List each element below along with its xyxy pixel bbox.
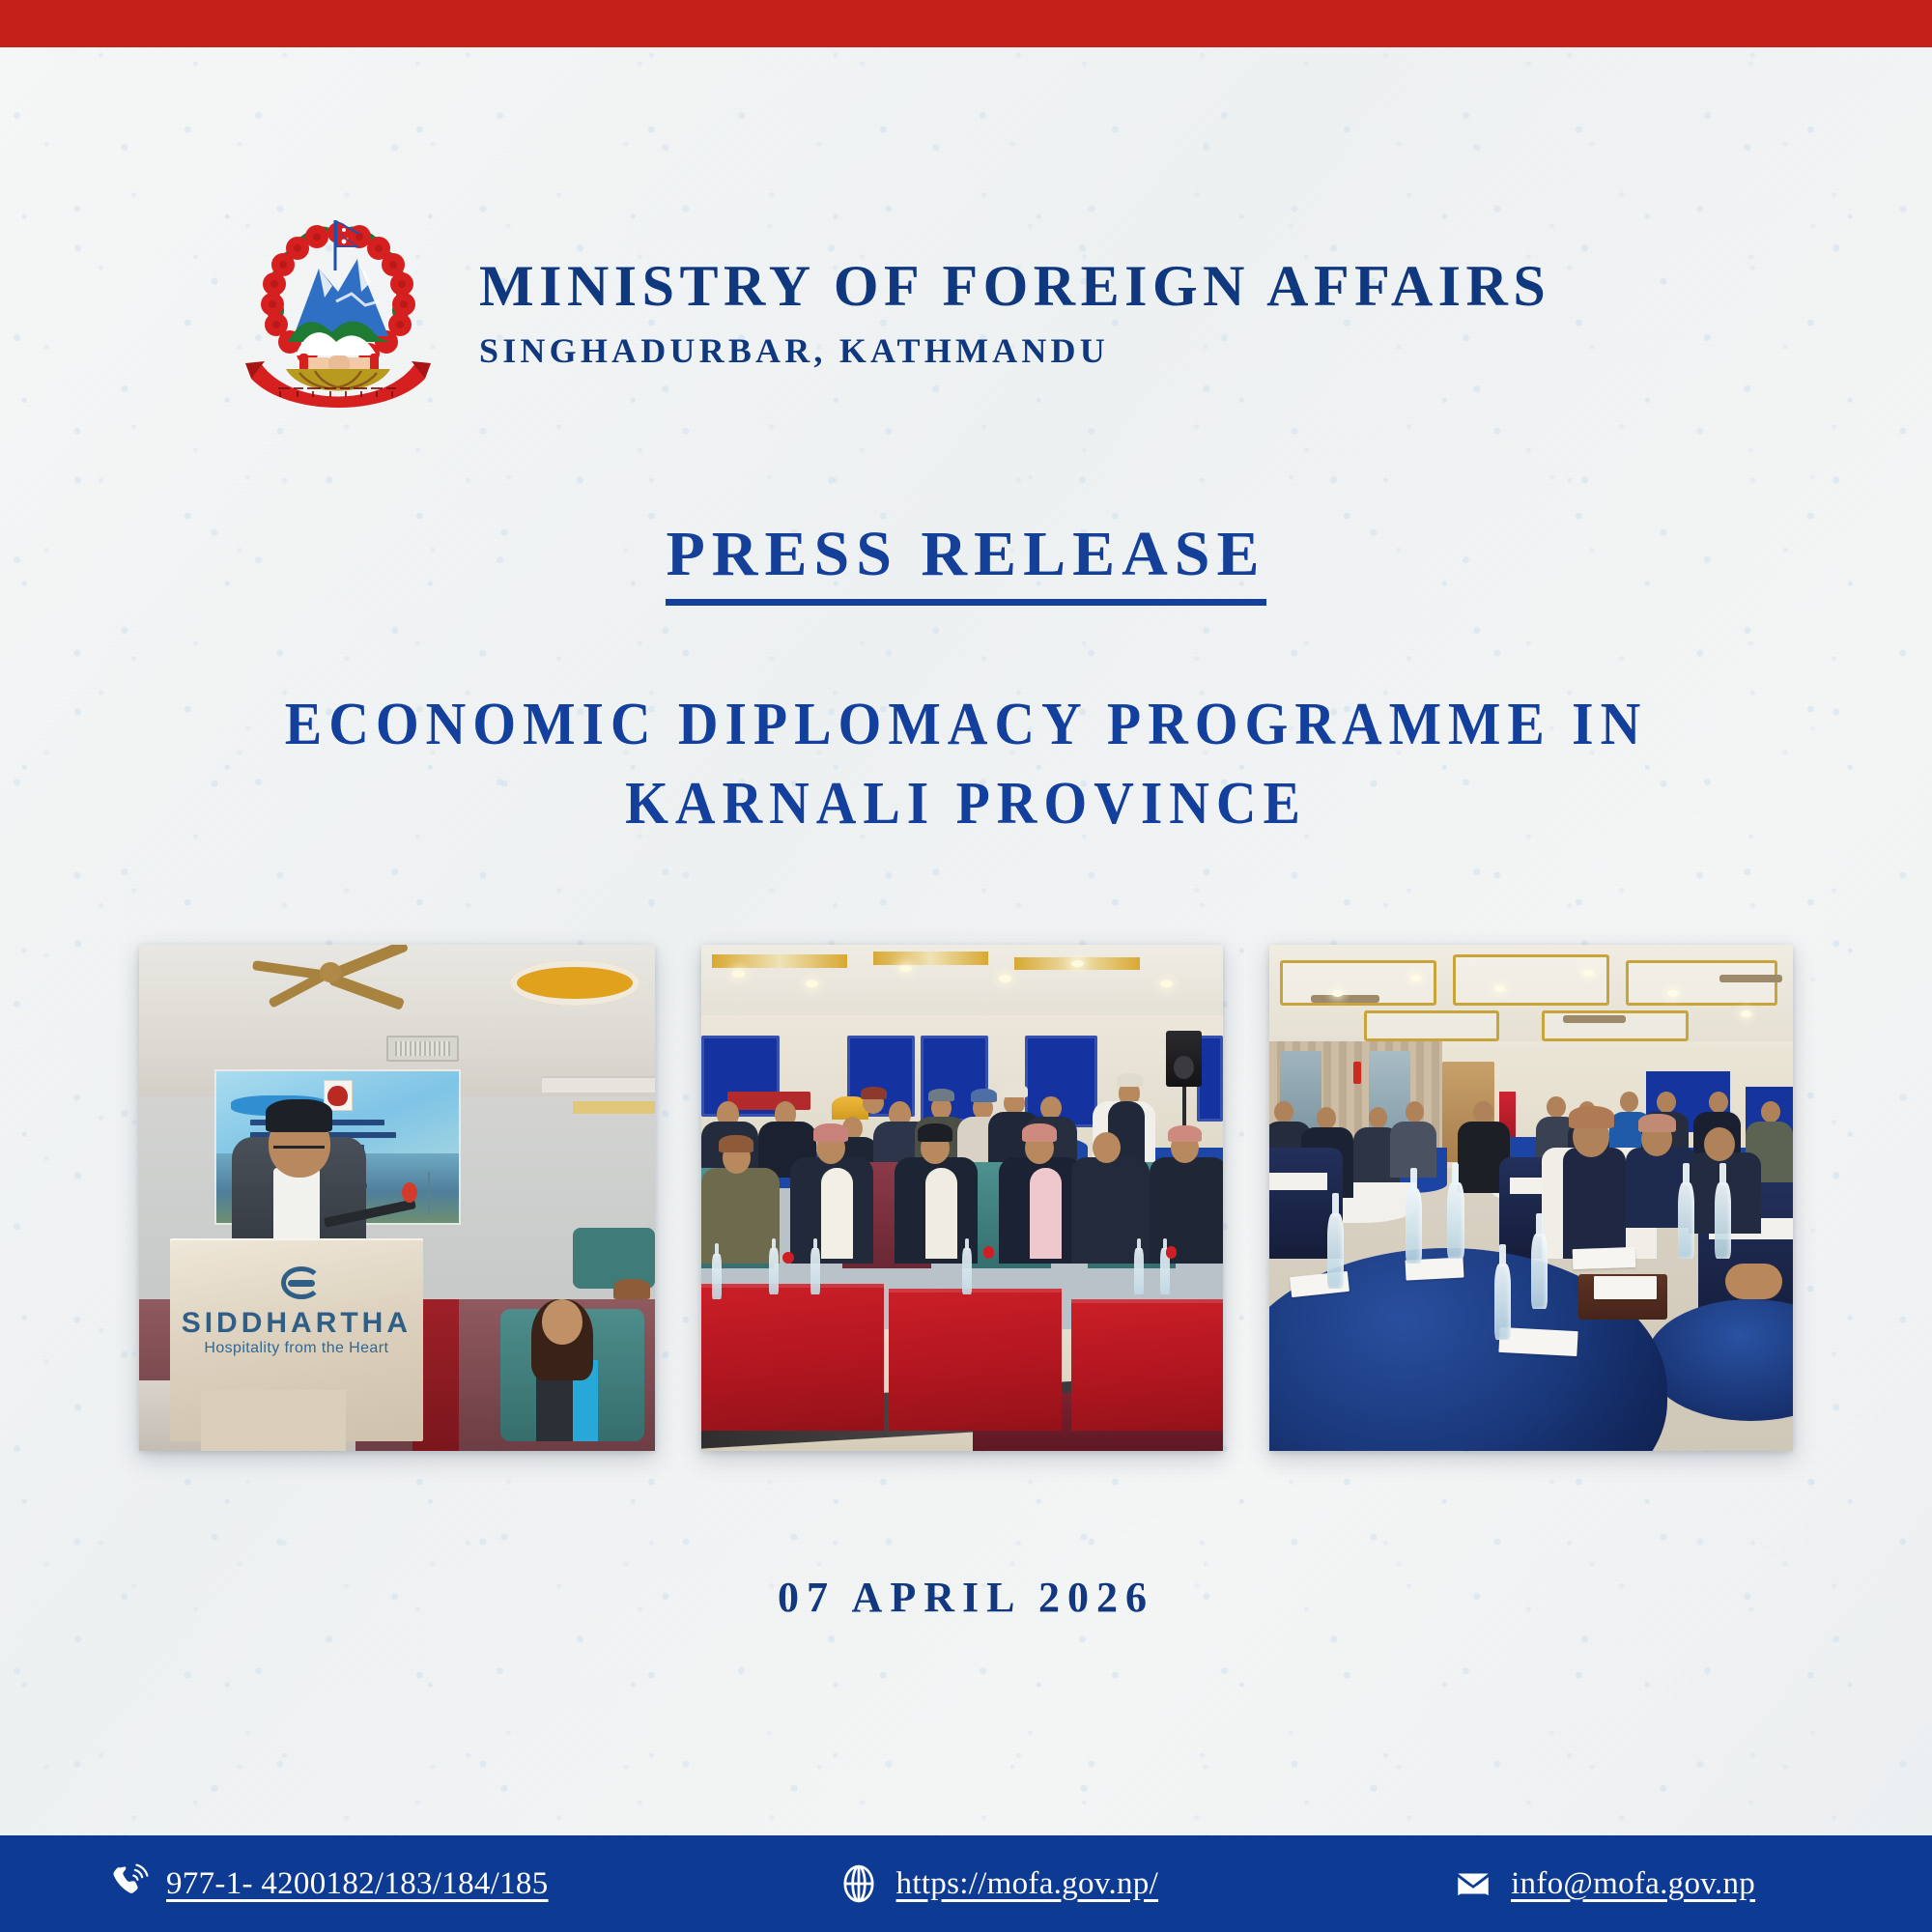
poster-header: MINISTRY OF FOREIGN AFFAIRS SINGHADURBAR… [0,209,1932,417]
water-bottle [712,1254,722,1299]
dhaka-topi [1638,1114,1676,1132]
press-release-date: 07 APRIL 2026 [0,1573,1932,1622]
footer-phone-text[interactable]: 977-1- 4200182/183/184/185 [166,1866,549,1902]
water-bottle [1678,1182,1694,1259]
footer-email-item[interactable]: info@mofa.gov.np [1453,1863,1755,1904]
dhaka-topi [1022,1123,1058,1142]
ceiling-light [732,970,745,977]
ac-vent [386,1036,459,1061]
attendee-head [1369,1107,1388,1128]
ceiling-fan [1719,975,1782,981]
podium-brand-tagline: Hospitality from the Heart [170,1340,423,1357]
dhaka-topi [719,1135,753,1152]
attendee-head [1620,1092,1637,1112]
envelope-icon [1453,1863,1493,1904]
podium-base [201,1390,346,1451]
ceiling-beam [712,954,847,968]
blue-wall-panel [1025,1036,1098,1126]
vip-tie [1030,1168,1061,1259]
attendee-head [1317,1107,1337,1129]
photo-strip: SIDDHARTHA Hospitality from the Heart [0,945,1932,1486]
fire-extinguisher [1353,1062,1362,1085]
water-bottle [1494,1264,1511,1340]
cap [928,1089,954,1102]
ceiling-beam [873,952,988,965]
photo-round-blue-tables [1269,945,1793,1451]
siddhartha-logo-icon [281,1266,322,1299]
ministry-name: MINISTRY OF FOREIGN AFFAIRS [479,255,1550,318]
header-text-block: MINISTRY OF FOREIGN AFFAIRS SINGHADURBAR… [479,255,1550,372]
water-bottle [1447,1182,1463,1259]
ceiling-light [1583,970,1594,977]
ceiling-fan [1563,1015,1626,1022]
ministry-address: SINGHADURBAR, KATHMANDU [479,330,1550,371]
podium-brand-name: SIDDHARTHA [170,1307,423,1340]
globe-icon [838,1863,879,1904]
water-bottle [1715,1182,1731,1259]
water-bottle [1327,1213,1344,1290]
ceiling-light [1494,985,1505,992]
headline-block: ECONOMIC DIPLOMACY PROGRAMME IN KARNALI … [68,686,1864,844]
foreground-man-vest [1563,1148,1626,1259]
water-bottle [962,1248,972,1293]
footer-website-text[interactable]: https://mofa.gov.np/ [896,1866,1159,1902]
dhaka-topi [1168,1125,1203,1143]
wall-trim [573,1101,655,1114]
footer-phone-item[interactable]: 977-1- 4200182/183/184/185 [108,1863,549,1904]
red-table [1071,1299,1223,1431]
phone-ringing-icon [108,1863,149,1904]
ceiling-light [1667,990,1678,997]
vip-shirt [925,1168,956,1259]
water-bottle [769,1248,779,1293]
headline-line-2: KARNALI PROVINCE [68,765,1864,844]
dhaka-topi [1002,1084,1028,1097]
red-table [889,1289,1061,1431]
seated-woman-head [542,1299,583,1345]
photo-speaker-at-podium: SIDDHARTHA Hospitality from the Heart [139,945,655,1451]
ceiling-light [1741,1010,1751,1017]
dhaka-topi [918,1123,953,1142]
footer-website-item[interactable]: https://mofa.gov.np/ [838,1863,1159,1904]
contact-footer: 977-1- 4200182/183/184/185 https://mofa.… [0,1835,1932,1932]
photo-audience-red-tables [701,945,1223,1451]
carnation [782,1252,794,1264]
press-release-heading-wrap: PRESS RELEASE [0,518,1932,591]
ceiling-fan [1311,995,1378,1002]
back-red-table [727,1092,810,1110]
dhaka-topi [813,1123,849,1142]
water-bottle [1134,1248,1144,1293]
seated-man-cap [613,1279,649,1299]
speaker-glasses [273,1146,325,1158]
ceiling-coffer [1364,1010,1500,1040]
headline-line-1: ECONOMIC DIPLOMACY PROGRAMME IN [68,686,1864,765]
water-bottle [1531,1234,1548,1310]
ceiling-light [1332,990,1343,997]
paper-sheet [1594,1276,1657,1299]
water-bottle [810,1248,820,1293]
vip-torso [701,1168,780,1264]
chair-sash [1269,1173,1327,1190]
wall-duct [542,1076,655,1093]
red-table [701,1284,884,1431]
attendee-head [1709,1092,1728,1113]
ceiling-light [806,980,818,987]
speaker-dhaka-topi [266,1099,332,1132]
press-release-heading: PRESS RELEASE [666,519,1265,606]
pa-speaker [1166,1031,1203,1087]
attendee-head [1657,1092,1676,1113]
dhaka-topi [971,1089,997,1102]
ceiling-light [1160,980,1173,987]
nepal-emblem-icon [243,209,433,417]
paper-sheet [1573,1247,1636,1269]
water-bottle [1406,1188,1422,1264]
ceiling-light [999,975,1011,981]
press-release-poster: MINISTRY OF FOREIGN AFFAIRS SINGHADURBAR… [0,0,1932,1932]
dhaka-topi [861,1087,887,1100]
top-red-band [0,0,1932,47]
hands [1725,1264,1783,1299]
vip-shirt [821,1168,852,1259]
ceiling-oval-light [510,960,639,1006]
footer-email-text[interactable]: info@mofa.gov.np [1511,1866,1755,1902]
dhaka-topi [1569,1106,1614,1128]
attendee-head [1547,1096,1566,1118]
ceiling-coffer [1453,954,1610,1005]
dhaka-topi [1117,1073,1143,1087]
paper-sheet [1499,1327,1579,1356]
ceiling-coffer [1626,960,1777,1006]
